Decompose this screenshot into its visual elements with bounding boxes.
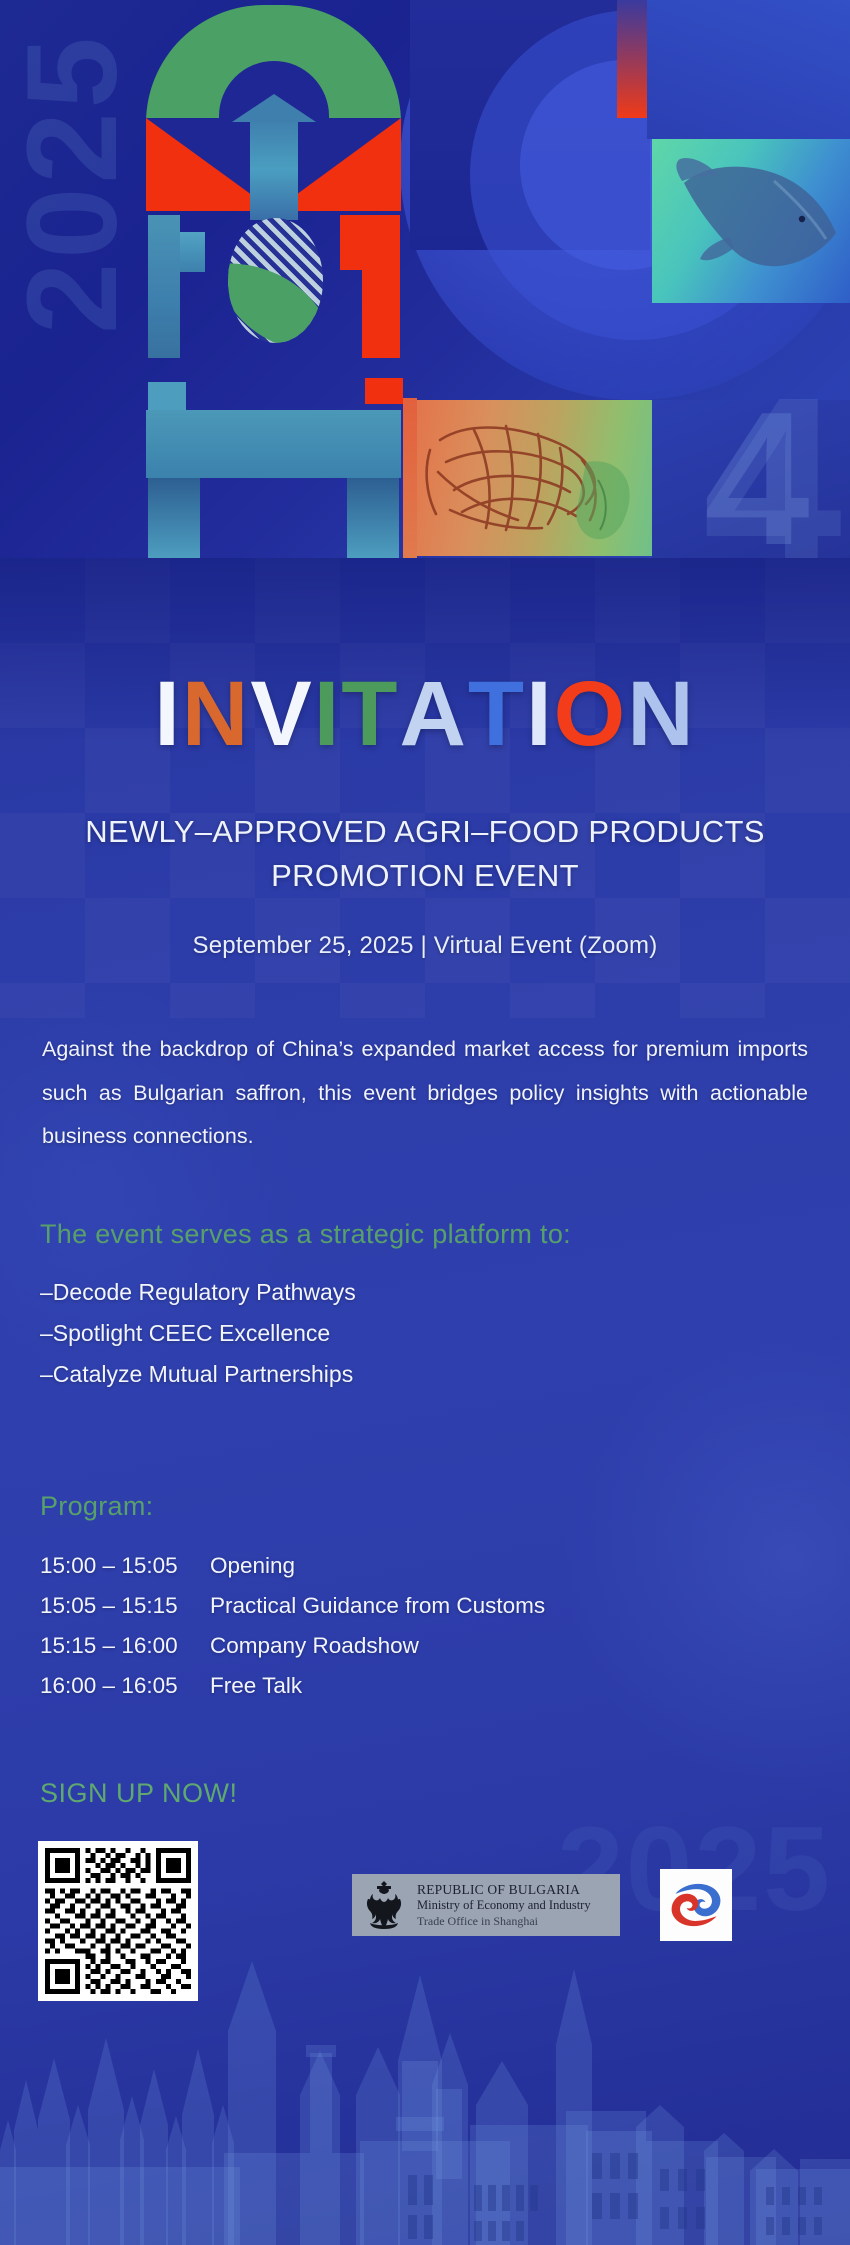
program-row-time: 15:00 – 15:05 [40,1546,210,1586]
program-heading: Program: [40,1491,850,1522]
city-skyline-silhouette [0,1945,850,2245]
striped-circle-icon [228,218,323,343]
platform-list-item: –Spotlight CEEC Excellence [40,1313,850,1354]
program-row: 15:15 – 16:00Company Roadshow [40,1626,850,1666]
title-letter-7: I [526,668,554,760]
red-blue-swirl-icon [666,1875,726,1935]
hero-red-strip [617,0,647,118]
platform-list-item: –Catalyze Mutual Partnerships [40,1354,850,1395]
bulgaria-coat-of-arms-icon [360,1879,408,1931]
fish-photo-tile [652,139,850,303]
program-row-time: 15:05 – 15:15 [40,1586,210,1626]
teal-bar-left [148,215,180,358]
title-letter-2: V [250,668,313,760]
teal-table-leg-right [347,478,399,558]
hero-watermark-2025: 2025 [0,33,146,334]
saffron-threads-icon [410,400,652,556]
program-row-item: Free Talk [210,1673,302,1698]
partner-swirl-logo [660,1869,732,1941]
title-letter-3: I [314,668,342,760]
title-letter-1: N [182,668,250,760]
intro-paragraph: Against the backdrop of China’s expanded… [42,1028,808,1159]
program-list: 15:00 – 15:05Opening15:05 – 15:15Practic… [40,1546,850,1706]
program-row: 16:00 – 16:05Free Talk [40,1666,850,1706]
bulgaria-logo-line-2: Ministry of Economy and Industry [417,1898,591,1913]
invitation-poster: 2025 [0,0,850,2245]
event-datetime: September 25, 2025 | Virtual Event (Zoom… [0,932,850,960]
bulgaria-logo-text: REPUBLIC OF BULGARIA Ministry of Economy… [417,1882,591,1928]
red-one-icon [362,215,400,358]
poster-content: INVITATION NEWLY–APPROVED AGRI–FOOD PROD… [0,558,850,2011]
program-row-item: Practical Guidance from Customs [210,1593,545,1618]
program-row-item: Company Roadshow [210,1633,419,1658]
up-arrow-icon [250,120,298,220]
title-letter-9: N [627,668,695,760]
bulgaria-trade-office-logo: REPUBLIC OF BULGARIA Ministry of Economy… [352,1874,620,1936]
title-letter-0: I [154,668,182,760]
teal-table-leg-left [148,478,200,558]
program-row: 15:00 – 15:05Opening [40,1546,850,1586]
teal-table-top [146,410,401,478]
hero-watermark-four: 4 [703,360,842,558]
subtitle: NEWLY–APPROVED AGRI–FOOD PRODUCTS PROMOT… [0,810,850,898]
title-letter-4: T [341,668,399,760]
page-title: INVITATION [0,668,850,760]
title-letter-8: O [554,668,628,760]
platform-list-item: –Decode Regulatory Pathways [40,1272,850,1313]
title-letter-5: A [399,668,467,760]
orange-strip [403,398,417,558]
teal-bar-left-small [180,232,205,272]
teal-square-top [148,382,186,412]
signup-call-to-action[interactable]: SIGN UP NOW! [40,1778,850,1809]
skyline-icon [0,1945,850,2245]
bulgaria-logo-line-1: REPUBLIC OF BULGARIA [417,1882,591,1898]
platform-list: –Decode Regulatory Pathways–Spotlight CE… [40,1272,850,1395]
hero-graphic: 2025 [0,0,850,558]
subtitle-line-1: NEWLY–APPROVED AGRI–FOOD PRODUCTS [0,810,850,854]
subtitle-line-2: PROMOTION EVENT [0,854,850,898]
program-row-time: 16:00 – 16:05 [40,1666,210,1706]
platform-heading: The event serves as a strategic platform… [40,1219,850,1250]
green-leaf-icon [228,253,323,343]
bulgaria-logo-line-3: Trade Office in Shanghai [417,1914,591,1929]
title-letter-6: T [468,668,526,760]
program-row-item: Opening [210,1553,295,1578]
saffron-photo-tile [410,400,652,556]
hero-block-top-right [647,0,850,139]
fish-icon [674,153,846,273]
program-row-time: 15:15 – 16:00 [40,1626,210,1666]
red-one-top [340,215,362,270]
program-row: 15:05 – 15:15Practical Guidance from Cus… [40,1586,850,1626]
red-square-right [365,378,403,404]
